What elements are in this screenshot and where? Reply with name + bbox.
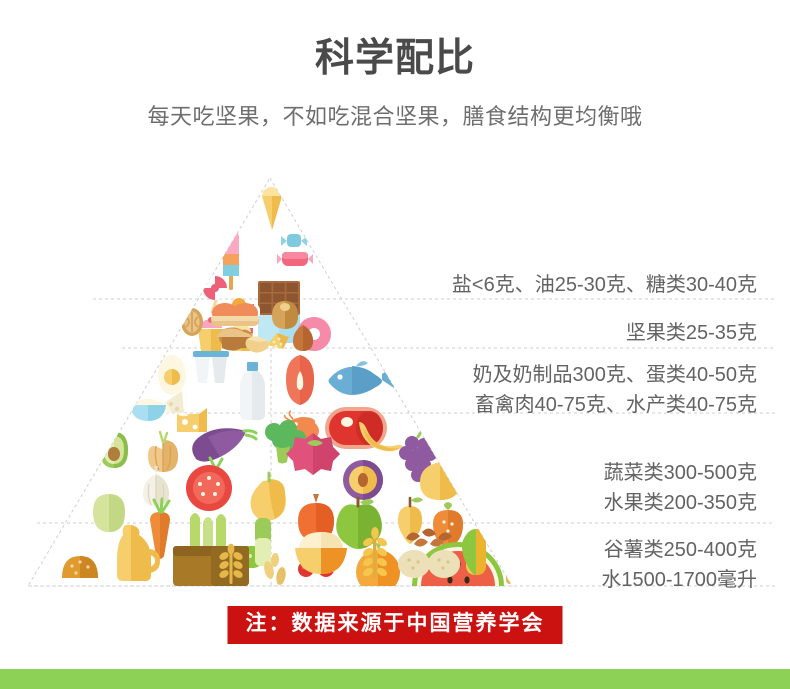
label-grains-line-1: 谷薯类250-400克 <box>601 535 757 565</box>
label-vegetables-fruits: 蔬菜类300-500克 水果类200-350克 <box>604 458 757 518</box>
label-nuts: 坚果类25-35克 <box>626 318 757 348</box>
label-fruits-line-2: 水果类200-350克 <box>604 488 757 518</box>
source-note-banner: 注：数据来源于中国营养学会 <box>228 606 563 644</box>
label-dairy-protein-line-1: 奶及奶制品300克、蛋类40-50克 <box>472 360 757 390</box>
tier-sweets-icons <box>198 187 331 351</box>
label-vegetables-line-1: 蔬菜类300-500克 <box>604 458 757 488</box>
label-nuts-line-1: 坚果类25-35克 <box>626 318 757 348</box>
label-water-line-2: 水1500-1700毫升 <box>601 565 757 595</box>
label-dairy-protein-line-2: 畜禽肉40-75克、水产类40-75克 <box>472 390 757 420</box>
page-subtitle: 每天吃坚果，不如吃混合坚果，膳食结构更均衡哦 <box>0 104 790 130</box>
infographic-root: 科学配比 每天吃坚果，不如吃混合坚果，膳食结构更均衡哦 <box>0 0 790 689</box>
page-title: 科学配比 <box>0 38 790 81</box>
label-dairy-protein: 奶及奶制品300克、蛋类40-50克 畜禽肉40-75克、水产类40-75克 <box>472 360 757 420</box>
tier-labels: 盐<6克、油25-30克、糖类30-40克 坚果类25-35克 奶及奶制品300… <box>400 170 775 595</box>
bottom-green-bar <box>0 669 790 689</box>
label-sweets: 盐<6克、油25-30克、糖类30-40克 <box>452 270 757 300</box>
tier-dairy-protein-icons <box>130 351 394 449</box>
label-sweets-line-1: 盐<6克、油25-30克、糖类30-40克 <box>452 270 757 300</box>
label-grains: 谷薯类250-400克 水1500-1700毫升 <box>601 535 757 595</box>
